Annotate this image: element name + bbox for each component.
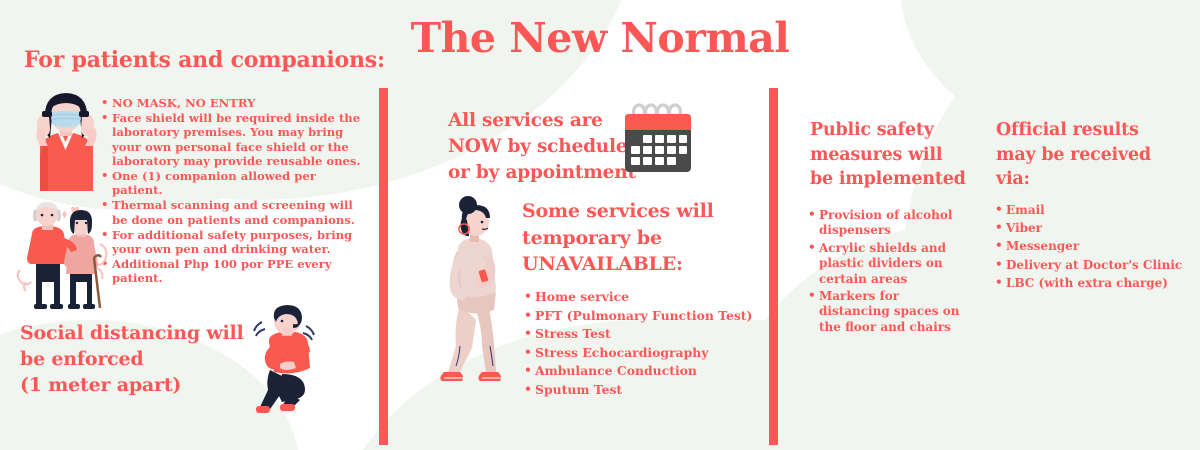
list-item: Sputum Test: [524, 381, 754, 399]
list-item: Home service: [524, 288, 754, 306]
column-divider-1: [379, 88, 388, 445]
unavailable-services-list: Home service PFT (Pulmonary Function Tes…: [524, 288, 754, 399]
walking-woman-with-phone-illustration: [424, 196, 519, 394]
list-item: Acrylic shields and plastic dividers on …: [808, 241, 973, 287]
patients-section-heading: For patients and companions:: [24, 48, 385, 74]
official-results-heading-line-2: may be received: [996, 143, 1151, 168]
list-item: Stress Echocardiography: [524, 344, 754, 362]
calendar-icon: [622, 102, 694, 176]
patients-bullet-list: NO MASK, NO ENTRY Face shield will be re…: [101, 96, 366, 287]
social-distancing-note: Social distancing will be enforced (1 me…: [20, 320, 244, 398]
list-item: Markers for distancing spaces on the flo…: [808, 289, 973, 335]
unavailable-heading-line-2: temporary be: [522, 225, 714, 252]
list-item: Provision of alcohol dispensers: [808, 208, 973, 239]
list-item: PFT (Pulmonary Function Test): [524, 307, 754, 325]
social-distancing-line-1: Social distancing will: [20, 320, 244, 346]
schedule-heading-line-2: NOW by schedule: [448, 134, 636, 160]
list-item: Messenger: [995, 238, 1185, 255]
list-item: Ambulance Conduction: [524, 362, 754, 380]
list-item: Face shield will be required inside the …: [101, 111, 366, 168]
social-distancing-line-3: (1 meter apart): [20, 372, 244, 398]
public-safety-heading: Public safety measures will be implement…: [810, 118, 966, 192]
woman-wearing-face-mask-illustration: [18, 86, 113, 191]
elderly-couple-illustration: [14, 196, 119, 318]
public-safety-list: Provision of alcohol dispensers Acrylic …: [808, 208, 973, 337]
public-safety-heading-line-1: Public safety: [810, 118, 966, 143]
coughing-man-illustration: [238, 302, 338, 417]
official-results-heading: Official results may be received via:: [996, 118, 1151, 192]
unavailable-heading-line-1: Some services will: [522, 198, 714, 225]
public-safety-heading-line-2: measures will: [810, 143, 966, 168]
list-item: Viber: [995, 220, 1185, 237]
infographic-canvas: The New Normal For patients and companio…: [0, 0, 1200, 450]
schedule-heading-line-3: or by appointment: [448, 160, 636, 186]
official-results-heading-line-1: Official results: [996, 118, 1151, 143]
list-item: One (1) companion allowed per patient.: [101, 169, 366, 197]
list-item: Email: [995, 202, 1185, 219]
schedule-heading: All services are NOW by schedule or by a…: [448, 108, 636, 186]
official-results-list: Email Viber Messenger Delivery at Doctor…: [995, 202, 1185, 293]
column-divider-2: [769, 88, 778, 445]
list-item: Delivery at Doctor's Clinic: [995, 257, 1185, 274]
list-item: Additional Php 100 por PPE every patient…: [101, 257, 366, 285]
list-item: For additional safety purposes, bring yo…: [101, 228, 366, 256]
social-distancing-line-2: be enforced: [20, 346, 244, 372]
public-safety-heading-line-3: be implemented: [810, 167, 966, 192]
unavailable-heading-line-3: UNAVAILABLE:: [522, 251, 714, 278]
schedule-heading-line-1: All services are: [448, 108, 636, 134]
official-results-heading-line-3: via:: [996, 167, 1151, 192]
list-item: NO MASK, NO ENTRY: [101, 96, 366, 110]
unavailable-services-heading: Some services will temporary be UNAVAILA…: [522, 198, 714, 278]
list-item: Thermal scanning and screening will be d…: [101, 198, 366, 226]
list-item: LBC (with extra charge): [995, 275, 1185, 292]
list-item: Stress Test: [524, 325, 754, 343]
